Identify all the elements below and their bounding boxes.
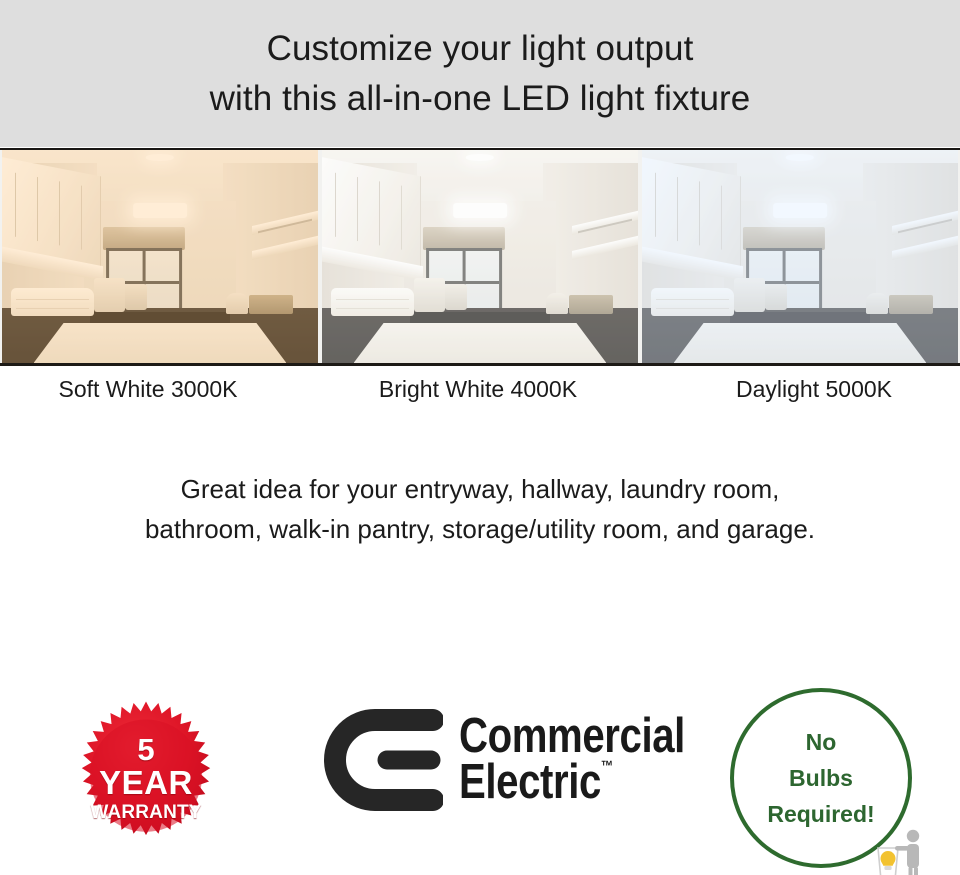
person-discarding-bulb-icon — [868, 822, 926, 875]
product-marketing-image: Customize your light output with this al… — [0, 0, 960, 875]
room-scene — [642, 150, 958, 363]
commercial-electric-mark-icon — [315, 708, 443, 812]
folded-towels — [11, 288, 93, 316]
warranty-badge-text: 5 YEAR WARRANTY — [68, 694, 224, 862]
room-photo-soft-white — [0, 150, 320, 363]
trademark-symbol: ™ — [601, 760, 613, 774]
folded-towels — [331, 288, 413, 316]
warranty-unit: YEAR — [99, 766, 193, 799]
brand-wordmark: Commercial Electric™ — [459, 714, 735, 805]
warranty-number: 5 — [137, 734, 154, 765]
led-light-fixture — [133, 203, 187, 218]
led-light-fixture — [773, 203, 827, 218]
body-copy-line-2: bathroom, walk-in pantry, storage/utilit… — [0, 510, 960, 550]
badge-row: 5 YEAR WARRANTY Commercial Electric™ — [0, 686, 960, 875]
right-jar — [546, 293, 568, 314]
room-scene — [2, 150, 318, 363]
storage-jar-large — [94, 278, 126, 312]
window-valance — [743, 227, 825, 250]
countertop — [34, 323, 287, 363]
warranty-badge: 5 YEAR WARRANTY — [68, 694, 224, 862]
led-light-fixture — [453, 203, 507, 218]
storage-jar-small — [445, 284, 467, 310]
countertop — [354, 323, 607, 363]
brand-line-1: Commercial — [459, 714, 685, 760]
folded-towels — [651, 288, 733, 316]
no-bulbs-line-2: Bulbs — [789, 765, 853, 792]
color-temperature-comparison-strip — [0, 148, 960, 366]
storage-jar-small — [125, 284, 147, 310]
body-copy: Great idea for your entryway, hallway, l… — [0, 470, 960, 550]
basket — [889, 295, 933, 314]
header-line-2: with this all-in-one LED light fixture — [210, 74, 751, 124]
brand-line-2: Electric — [459, 760, 601, 806]
room-scene — [322, 150, 638, 363]
counter-shadow — [90, 312, 229, 323]
header-line-1: Customize your light output — [267, 24, 694, 74]
window-valance — [423, 227, 505, 250]
brand-logo: Commercial Electric™ — [315, 708, 735, 812]
window-valance — [103, 227, 185, 250]
panel-captions: Soft White 3000K Bright White 4000K Dayl… — [0, 369, 960, 409]
right-jar — [866, 293, 888, 314]
room-photo-bright-white — [320, 150, 640, 363]
storage-jar-large — [734, 278, 766, 312]
caption-soft-white: Soft White 3000K — [0, 369, 308, 409]
counter-shadow — [410, 312, 549, 323]
basket — [249, 295, 293, 314]
caption-daylight: Daylight 5000K — [654, 369, 960, 409]
header-banner: Customize your light output with this al… — [0, 0, 960, 147]
no-bulbs-line-3: Required! — [767, 801, 874, 828]
caption-bright-white: Bright White 4000K — [318, 369, 638, 409]
brand-line-2-wrap: Electric™ — [459, 760, 685, 806]
no-bulbs-line-1: No — [806, 729, 837, 756]
countertop — [674, 323, 927, 363]
counter-shadow — [730, 312, 869, 323]
warranty-label: WARRANTY — [90, 803, 201, 822]
room-photo-daylight — [640, 150, 960, 363]
storage-jar-large — [414, 278, 446, 312]
no-bulbs-required-badge: No Bulbs Required! — [730, 688, 912, 868]
right-jar — [226, 293, 248, 314]
basket — [569, 295, 613, 314]
storage-jar-small — [765, 284, 787, 310]
body-copy-line-1: Great idea for your entryway, hallway, l… — [0, 470, 960, 510]
